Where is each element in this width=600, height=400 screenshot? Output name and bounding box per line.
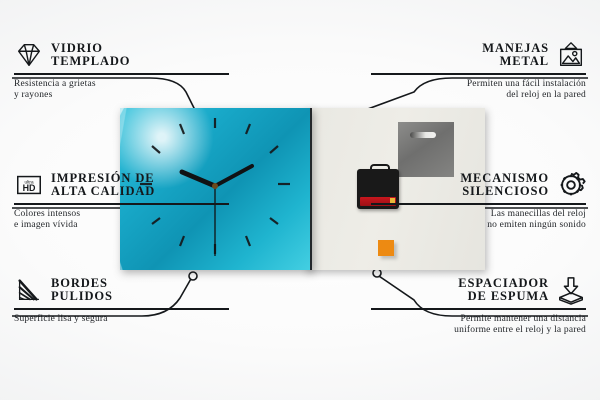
diamond-icon [14, 40, 44, 70]
feature-mecanismo-silencioso: MECANISMO SILENCIOSO Las manecillas del … [371, 170, 586, 232]
feature-title: BORDES PULIDOS [51, 277, 113, 304]
feature-title: MANEJAS METAL [482, 42, 549, 69]
feature-espaciador-espuma: ESPACIADOR DE ESPUMA Permite mantener un… [371, 275, 586, 337]
feature-description: Colores intensos e imagen vívida [14, 209, 229, 232]
feature-bordes-pulidos: BORDES PULIDOS Superficie lisa y segura [14, 275, 229, 325]
feature-rule [14, 73, 229, 75]
picture-frame-hanger-icon [556, 40, 586, 70]
feature-description: Permiten una fácil instalación del reloj… [371, 79, 586, 102]
feature-title: VIDRIO TEMPLADO [51, 42, 130, 69]
polished-edges-icon [14, 275, 44, 305]
feature-header: MANEJAS METAL [371, 40, 586, 70]
metal-hanger-plate [398, 122, 454, 177]
hanger-slot [410, 132, 436, 138]
gear-icon [556, 170, 586, 200]
ultra-hd-icon: ultra HD [14, 170, 44, 200]
feature-title: MECANISMO SILENCIOSO [460, 172, 549, 199]
feature-rule [14, 203, 229, 205]
feature-description: Las manecillas del reloj no emiten ningú… [371, 209, 586, 232]
feature-rule [371, 203, 586, 205]
feature-description: Superficie lisa y segura [14, 314, 229, 326]
feature-title: ESPACIADOR DE ESPUMA [458, 277, 549, 304]
infographic-canvas: VIDRIO TEMPLADO Resistencia a grietas y … [0, 0, 600, 400]
feature-vidrio-templado: VIDRIO TEMPLADO Resistencia a grietas y … [14, 40, 229, 102]
hd-label: HD [23, 183, 36, 193]
feature-header: VIDRIO TEMPLADO [14, 40, 229, 70]
feature-rule [371, 73, 586, 75]
feature-title: IMPRESIÓN DE ALTA CALIDAD [51, 172, 155, 199]
feature-header: ultra HD IMPRESIÓN DE ALTA CALIDAD [14, 170, 229, 200]
feature-header: MECANISMO SILENCIOSO [371, 170, 586, 200]
foam-spacer-arrow-icon [556, 275, 586, 305]
feature-header: ESPACIADOR DE ESPUMA [371, 275, 586, 305]
feature-manejas-metal: MANEJAS METAL Permiten una fácil instala… [371, 40, 586, 102]
feature-impresion-alta-calidad: ultra HD IMPRESIÓN DE ALTA CALIDAD Color… [14, 170, 229, 232]
foam-spacer [378, 240, 394, 256]
feature-rule [371, 308, 586, 310]
feature-header: BORDES PULIDOS [14, 275, 229, 305]
feature-rule [14, 308, 229, 310]
feature-description: Resistencia a grietas y rayones [14, 79, 229, 102]
feature-description: Permite mantener una distancia uniforme … [371, 314, 586, 337]
